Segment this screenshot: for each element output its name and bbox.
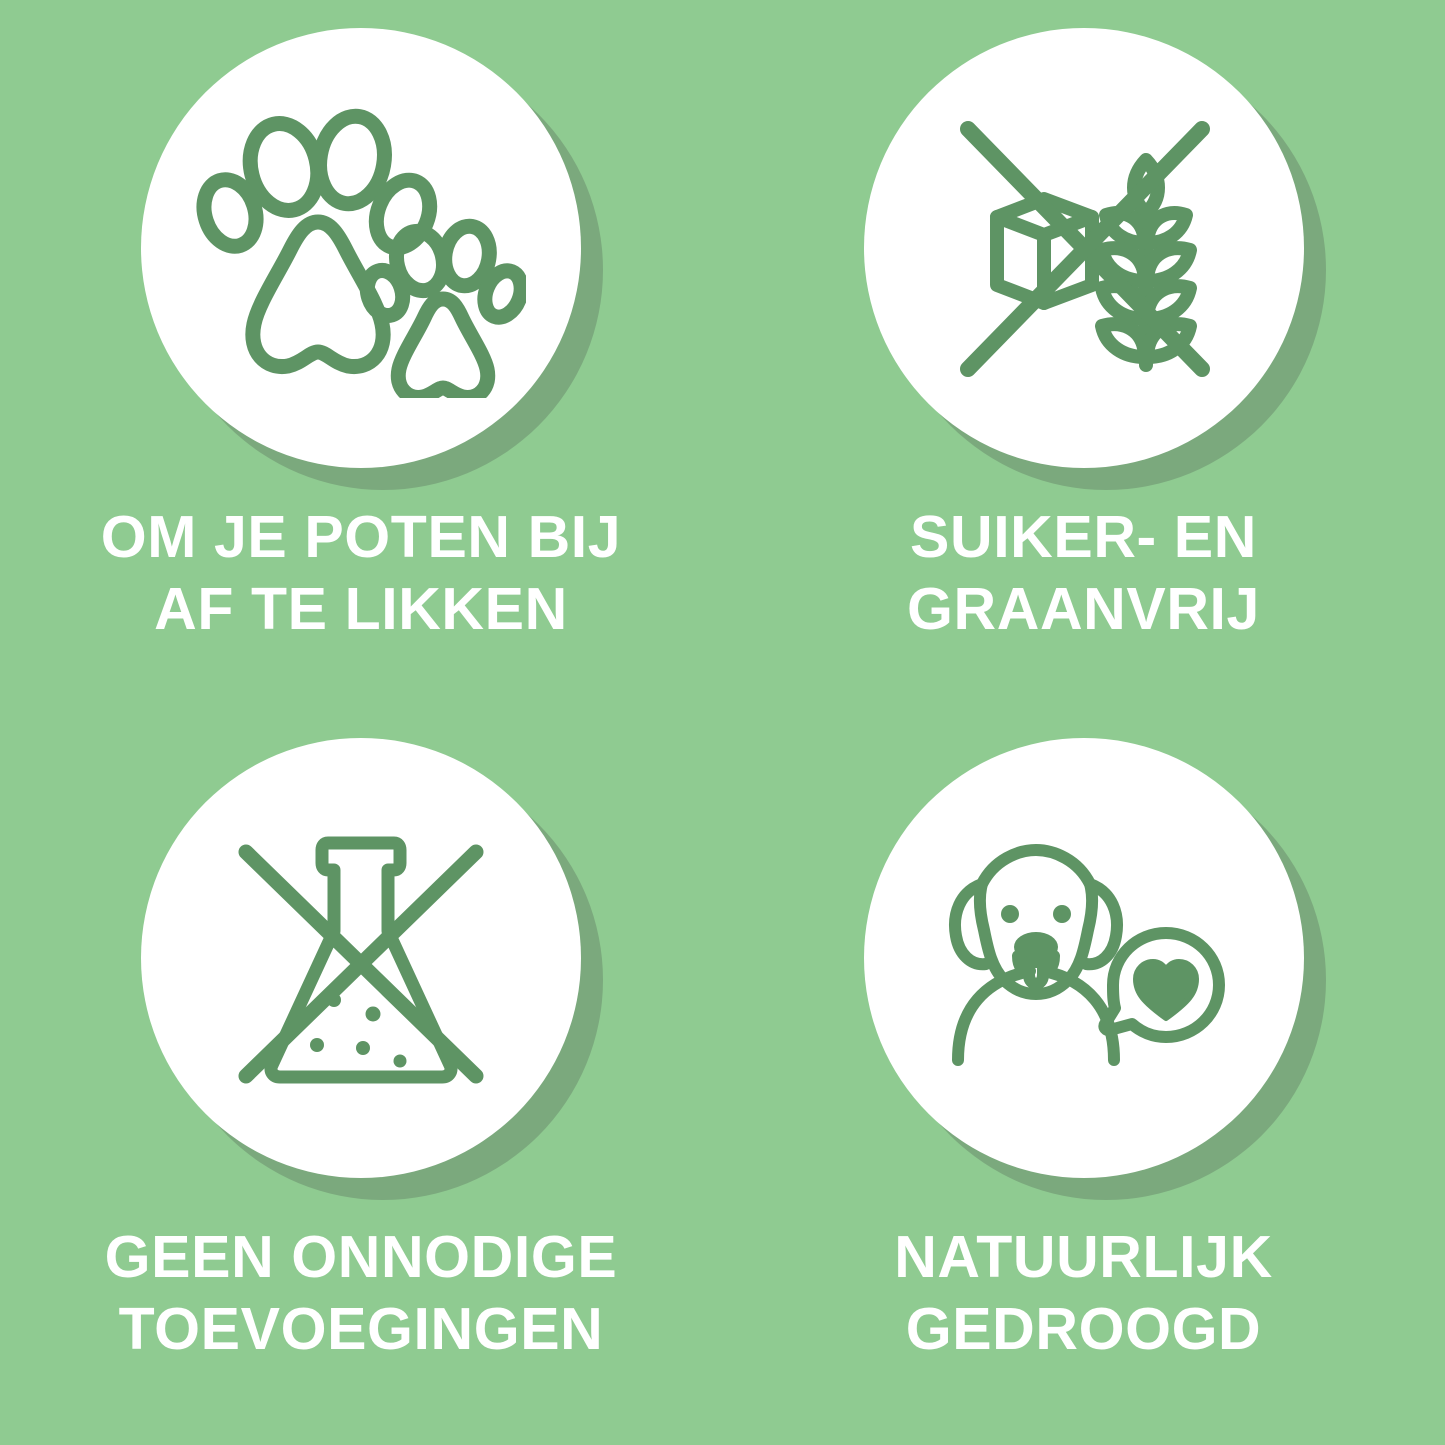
no-sugar-no-grain-icon: [934, 103, 1234, 393]
badge-disc: [864, 738, 1304, 1178]
feature-label: OM JE POTEN BIJ AF TE LIKKEN: [31, 502, 691, 646]
feature-label: GEEN ONNODIGE TOEVOEGINGEN: [31, 1222, 691, 1366]
happy-dog-icon: [934, 838, 1234, 1078]
feature-card-naturally-dried[interactable]: NATUURLIJK GEDROOGD: [722, 722, 1445, 1445]
badge-disc: [141, 738, 581, 1178]
badge-sugar-grain-free: [864, 28, 1304, 468]
dog-eyes: [1001, 905, 1071, 923]
no-chemicals-flask-icon: [216, 813, 506, 1103]
feature-card-no-additives[interactable]: GEEN ONNODIGE TOEVOEGINGEN: [0, 722, 722, 1445]
paw-prints-icon: [196, 98, 526, 398]
dog-tongue: [1029, 962, 1043, 984]
dog-head: [979, 850, 1091, 994]
heart-icon: [1136, 962, 1196, 1018]
badge-disc: [864, 28, 1304, 468]
feature-label: SUIKER- EN GRAANVRIJ: [754, 502, 1414, 646]
feature-card-paw-licking[interactable]: OM JE POTEN BIJ AF TE LIKKEN: [0, 0, 722, 722]
badge-no-additives: [141, 738, 581, 1178]
badge-paw-licking: [141, 28, 581, 468]
badge-naturally-dried: [864, 738, 1304, 1178]
feature-label: NATUURLIJK GEDROOGD: [754, 1222, 1414, 1366]
feature-card-sugar-grain-free[interactable]: SUIKER- EN GRAANVRIJ: [722, 0, 1445, 722]
badge-disc: [141, 28, 581, 468]
feature-badge-board: OM JE POTEN BIJ AF TE LIKKEN: [0, 0, 1445, 1445]
feature-grid: OM JE POTEN BIJ AF TE LIKKEN: [0, 0, 1445, 1445]
